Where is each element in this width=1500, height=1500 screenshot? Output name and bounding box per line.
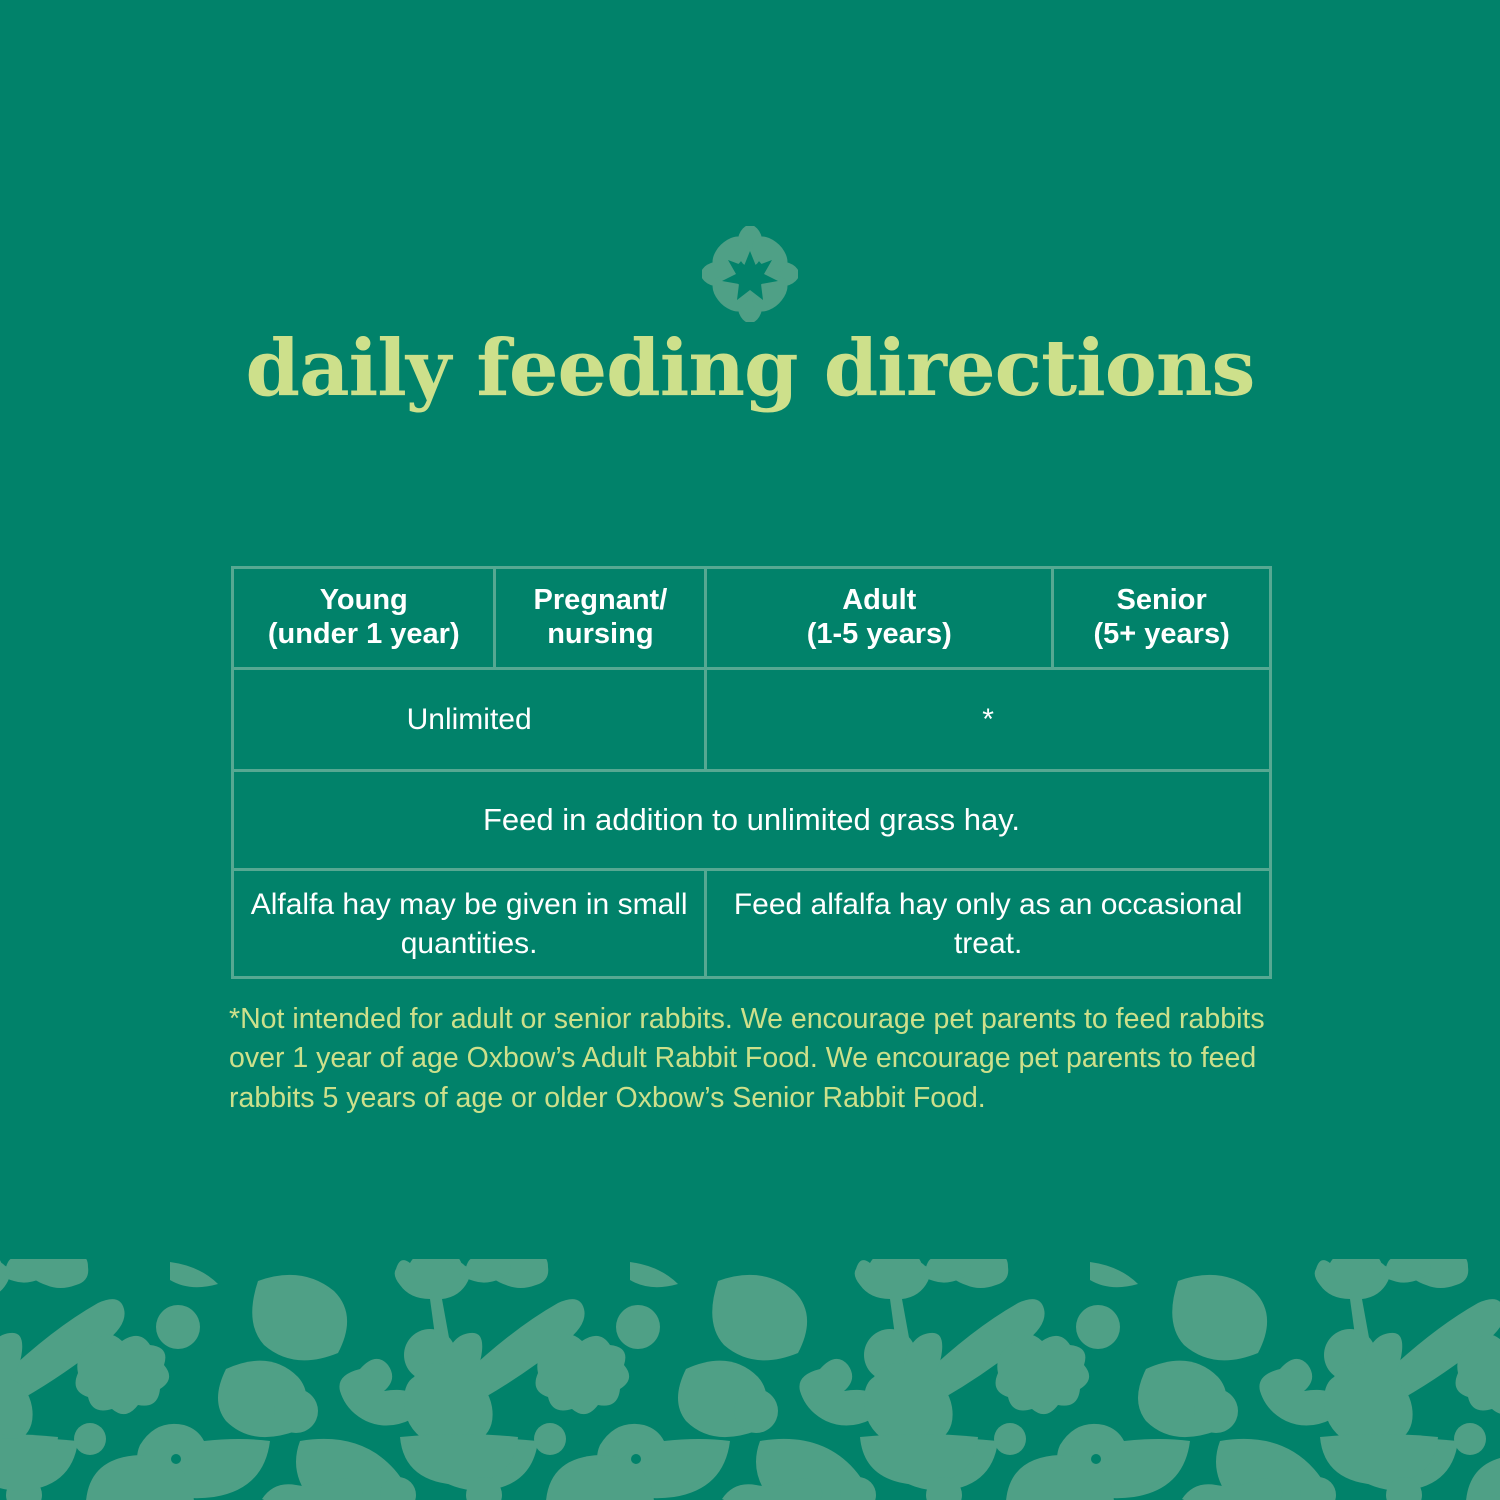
- header-young-line1: Young: [320, 584, 408, 616]
- feeding-table: Young (under 1 year) Pregnant/ nursing A…: [231, 566, 1272, 979]
- table-header-young: Young (under 1 year): [234, 569, 496, 667]
- feeding-directions-panel: YOUNG RABBIT FOOD daily feedin: [0, 0, 1500, 1500]
- cell-amount-young-pregnant: Unlimited: [234, 670, 707, 769]
- header-adult-line2: (1-5 years): [807, 618, 952, 650]
- header-pregnant-line2: nursing: [547, 618, 653, 650]
- header-pregnant-line1: Pregnant/: [534, 584, 668, 616]
- table-row: Feed in addition to unlimited grass hay.: [234, 772, 1269, 871]
- cell-alfalfa-young: Alfalfa hay may be given in small quanti…: [234, 871, 707, 976]
- page-title: daily feeding directions: [0, 330, 1500, 408]
- table-header-row: Young (under 1 year) Pregnant/ nursing A…: [234, 569, 1269, 670]
- rosette-flower-icon: [702, 226, 798, 322]
- footnote-text: *Not intended for adult or senior rabbit…: [229, 1000, 1279, 1118]
- table-row: Unlimited *: [234, 670, 1269, 772]
- botanical-rabbit-pattern: [0, 1259, 1500, 1500]
- table-header-senior: Senior (5+ years): [1054, 569, 1269, 667]
- header-senior-line2: (5+ years): [1094, 618, 1230, 650]
- table-row: Alfalfa hay may be given in small quanti…: [234, 871, 1269, 976]
- cell-alfalfa-adult: Feed alfalfa hay only as an occasional t…: [707, 871, 1269, 976]
- cell-grass-hay-note: Feed in addition to unlimited grass hay.: [234, 772, 1269, 868]
- header-adult-line1: Adult: [842, 584, 916, 616]
- table-header-pregnant: Pregnant/ nursing: [496, 569, 707, 667]
- cell-amount-adult-senior: *: [707, 670, 1269, 769]
- header-senior-line1: Senior: [1117, 584, 1207, 616]
- table-header-adult: Adult (1-5 years): [707, 569, 1054, 667]
- header-young-line2: (under 1 year): [268, 618, 460, 650]
